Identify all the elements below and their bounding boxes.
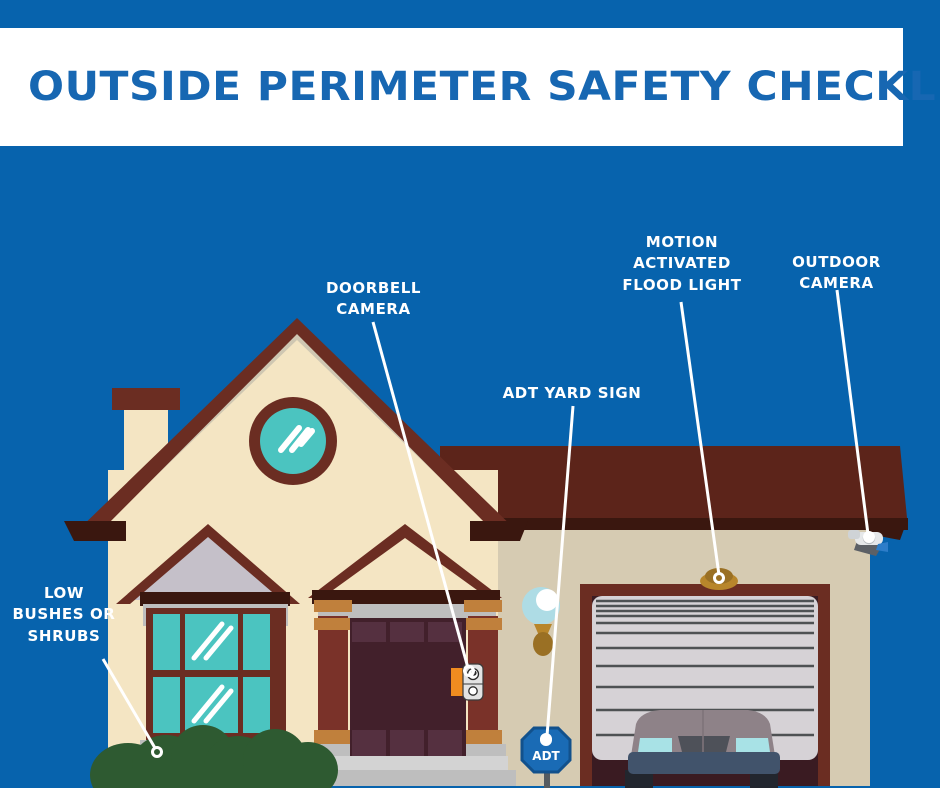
front-steps — [310, 756, 516, 786]
callout-label-doorbell-camera: DOORBELL CAMERA — [296, 278, 451, 321]
round-attic-window — [249, 397, 337, 485]
yard-sign-text: ADT — [532, 749, 560, 763]
callout-label-adt-yard-sign: ADT YARD SIGN — [492, 383, 652, 404]
callout-label-flood-light: MOTION ACTIVATED FLOOD LIGHT — [600, 232, 764, 296]
callout-label-low-bushes-or-shrubs: LOW BUSHES OR SHRUBS — [6, 583, 122, 647]
infographic-canvas: OUTSIDE PERIMETER SAFETY CHECKLIST — [0, 0, 940, 788]
callout-label-outdoor-camera: OUTDOOR CAMERA — [764, 252, 909, 295]
house-illustration: ADT — [0, 0, 940, 788]
